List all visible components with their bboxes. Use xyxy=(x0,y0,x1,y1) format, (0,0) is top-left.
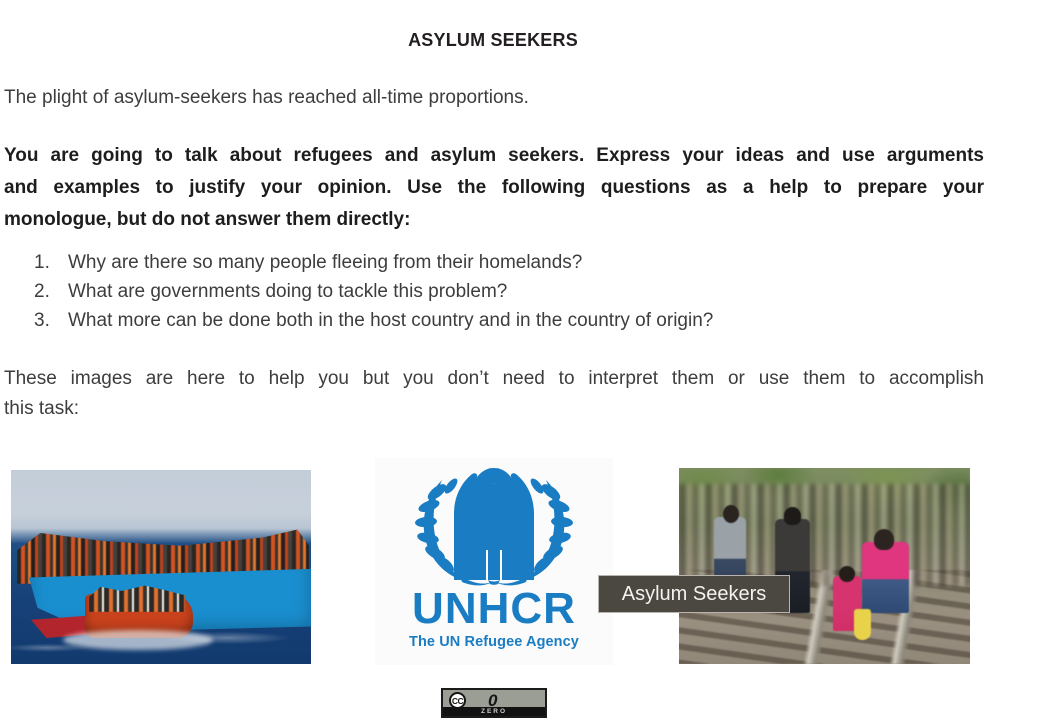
question-list: 1. Why are there so many people fleeing … xyxy=(34,248,974,335)
boat-wake xyxy=(63,630,213,650)
page-title: ASYLUM SEEKERS xyxy=(0,30,986,51)
closing-line-1: These images are here to help you but yo… xyxy=(4,364,984,394)
walking-person-head xyxy=(784,507,801,525)
list-item: 3. What more can be done both in the hos… xyxy=(34,306,974,335)
document-page: ASYLUM SEEKERS The plight of asylum-seek… xyxy=(0,0,1050,722)
walking-child-head xyxy=(839,566,855,582)
list-item-text: What are governments doing to tackle thi… xyxy=(68,277,974,306)
overcrowded-migrant-boat-photo xyxy=(11,470,311,664)
refugees-walking-railway-photo xyxy=(679,468,970,664)
list-item-number: 2. xyxy=(34,277,68,306)
cc-zero-license-badge[interactable]: CC 0 ZERO xyxy=(441,688,547,718)
cc-badge-caption: ZERO xyxy=(443,707,545,716)
list-item-number: 3. xyxy=(34,306,68,335)
instructions-line-3: monologue, but do not answer them direct… xyxy=(4,204,984,236)
unhcr-emblem-icon xyxy=(396,458,592,586)
image-tooltip: Asylum Seekers xyxy=(598,575,790,613)
walking-person-head xyxy=(874,529,894,551)
closing-line-2: this task: xyxy=(4,394,984,424)
walking-person xyxy=(862,542,909,613)
instructions-line-2: and examples to justify your opinion. Us… xyxy=(4,172,984,204)
list-item-text: Why are there so many people fleeing fro… xyxy=(68,248,974,277)
list-item: 2. What are governments doing to tackle … xyxy=(34,277,974,306)
unhcr-logo: UNHCR The UN Refugee Agency xyxy=(375,458,613,665)
instructions-line-1: You are going to talk about refugees and… xyxy=(4,140,984,172)
carried-bag xyxy=(854,609,871,640)
unhcr-tagline: The UN Refugee Agency xyxy=(409,635,579,650)
list-item: 1. Why are there so many people fleeing … xyxy=(34,248,974,277)
lead-paragraph: The plight of asylum-seekers has reached… xyxy=(4,85,984,111)
list-item-number: 1. xyxy=(34,248,68,277)
walking-person-head xyxy=(723,505,739,523)
instructions-block: You are going to talk about refugees and… xyxy=(4,140,984,236)
unhcr-wordmark: UNHCR xyxy=(412,587,576,631)
closing-paragraph: These images are here to help you but yo… xyxy=(4,364,984,424)
list-item-text: What more can be done both in the host c… xyxy=(68,306,974,335)
